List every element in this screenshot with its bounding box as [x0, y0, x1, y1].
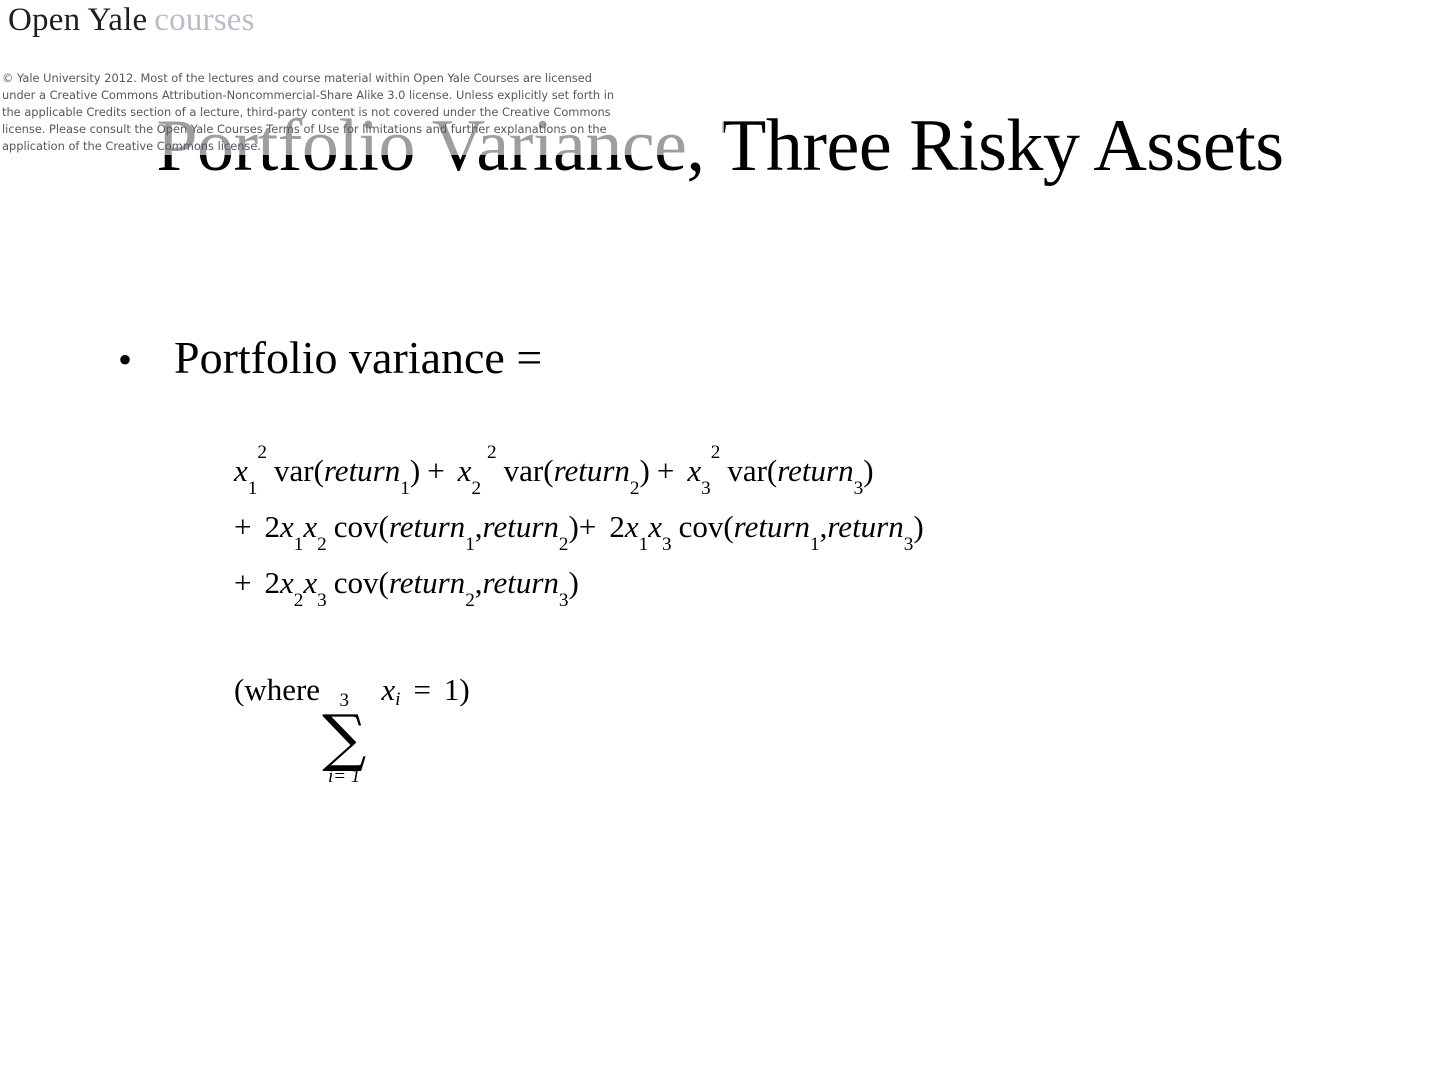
comma-3: , — [475, 565, 483, 600]
cov2-arg-b-subscript: 3 — [904, 534, 914, 555]
coefficient-2a: 2 — [264, 509, 280, 544]
plus-operator-1: + — [427, 453, 444, 488]
term-x2-a: x — [303, 509, 317, 544]
paren-close-2: ) — [640, 453, 650, 488]
return-1-subscript: 1 — [400, 478, 410, 499]
open-yale-courses-logo: Open Yalecourses — [8, 2, 255, 39]
plus-operator-2: + — [657, 453, 674, 488]
logo-text-open-yale: Open Yale — [8, 2, 147, 38]
cov2-paren-close: ) — [913, 509, 923, 544]
var-function-1: var( — [274, 453, 324, 488]
cov-function-3: cov( — [334, 565, 389, 600]
term-x3-b: x — [648, 509, 662, 544]
cov-function-2: cov( — [679, 509, 734, 544]
term-x2-subscript: 2 — [471, 478, 481, 499]
plus-operator-mid-2: + — [579, 509, 596, 544]
term-x3-c: x — [303, 565, 317, 600]
equation-line-variance-terms: x12var(return1)+x22var(return2)+x32var(r… — [234, 450, 924, 492]
equals-operator: = — [413, 672, 430, 708]
where-close-paren: ) — [459, 672, 469, 708]
cov3-arg-b-subscript: 3 — [559, 590, 569, 611]
term-x2-a-subscript: 2 — [317, 534, 327, 555]
portfolio-variance-equation: x12var(return1)+x22var(return2)+x32var(r… — [234, 450, 924, 604]
equation-line-covariance-12-13: +2x1x2cov(return1,return2)+2x1x3cov(retu… — [234, 506, 924, 548]
where-open-paren-label: (where — [234, 672, 320, 708]
term-x1-subscript: 1 — [248, 478, 258, 499]
coefficient-2c: 2 — [264, 565, 280, 600]
coefficient-2b: 2 — [609, 509, 625, 544]
plus-operator-lead-2: + — [234, 509, 251, 544]
return-2-arg: return — [554, 453, 630, 488]
cov2-arg-a: return — [734, 509, 810, 544]
cov1-arg-b: return — [483, 509, 559, 544]
summation-lower-limit: i= 1 — [328, 767, 360, 787]
paren-close-3: ) — [863, 453, 873, 488]
term-x3-c-subscript: 3 — [317, 590, 327, 611]
term-x1-b-subscript: 1 — [639, 534, 649, 555]
term-x1-exponent: 2 — [257, 442, 267, 463]
constraint-value: 1 — [444, 672, 460, 708]
summation-term: x — [381, 672, 395, 708]
bullet-item-label: Portfolio variance = — [174, 332, 542, 384]
cov1-arg-a: return — [389, 509, 465, 544]
return-3-subscript: 3 — [854, 478, 864, 499]
logo-text-courses: courses — [154, 2, 254, 38]
paren-close-1: ) — [410, 453, 420, 488]
var-function-2: var( — [504, 453, 554, 488]
term-x3-base: x — [687, 453, 701, 488]
bullet-point-icon: • — [118, 334, 174, 386]
term-x1-a-subscript: 1 — [294, 534, 304, 555]
term-x2-c: x — [280, 565, 294, 600]
return-2-subscript: 2 — [630, 478, 640, 499]
cov3-arg-a-subscript: 2 — [465, 590, 475, 611]
license-notice: © Yale University 2012. Most of the lect… — [2, 70, 724, 155]
equation-line-covariance-23: +2x2x3cov(return2,return3) — [234, 562, 924, 604]
summation-operator: 3 ∑ i= 1 — [322, 691, 366, 787]
cov3-arg-b: return — [483, 565, 559, 600]
bullet-item: • Portfolio variance = — [118, 332, 542, 386]
cov-function-1: cov( — [334, 509, 389, 544]
term-x1-a: x — [280, 509, 294, 544]
comma-1: , — [475, 509, 483, 544]
term-x3-subscript: 3 — [701, 478, 711, 499]
plus-operator-lead-3: + — [234, 565, 251, 600]
cov1-paren-close: ) — [569, 509, 579, 544]
term-x3-exponent: 2 — [711, 442, 721, 463]
cov1-arg-a-subscript: 1 — [465, 534, 475, 555]
term-x3-b-subscript: 3 — [662, 534, 672, 555]
term-x1-b: x — [625, 509, 639, 544]
cov2-arg-b: return — [827, 509, 903, 544]
return-1-arg: return — [324, 453, 400, 488]
return-3-arg: return — [777, 453, 853, 488]
cov3-paren-close: ) — [569, 565, 579, 600]
term-x2-c-subscript: 2 — [294, 590, 304, 611]
cov2-arg-a-subscript: 1 — [810, 534, 820, 555]
term-x2-exponent: 2 — [487, 442, 497, 463]
sigma-icon: ∑ — [322, 710, 366, 766]
term-x2-base: x — [458, 453, 472, 488]
var-function-3: var( — [727, 453, 777, 488]
constraint-expression: (where 3 ∑ i= 1 xi = 1) — [234, 672, 470, 781]
cov1-arg-b-subscript: 2 — [559, 534, 569, 555]
term-x1-base: x — [234, 453, 248, 488]
cov3-arg-a: return — [389, 565, 465, 600]
